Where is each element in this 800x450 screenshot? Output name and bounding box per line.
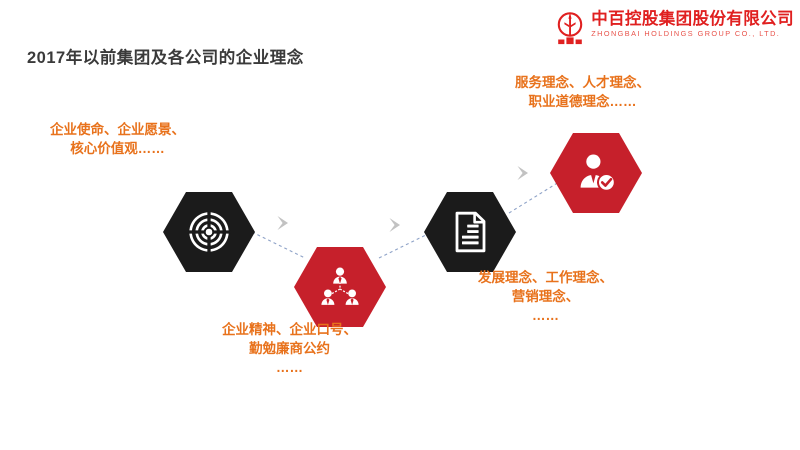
caption-mission: 企业使命、企业愿景、 核心价值观…… <box>50 120 185 158</box>
caption-line: 勤勉廉商公约 <box>222 339 357 358</box>
chevron-right-icon <box>385 215 407 235</box>
caption-line: 职业道德理念…… <box>515 92 650 111</box>
target-bullseye-icon <box>187 210 231 254</box>
caption-spirit: 企业精神、企业口号、 勤勉廉商公约 …… <box>222 320 357 377</box>
caption-line: 企业精神、企业口号、 <box>222 320 357 339</box>
flow-node-mission[interactable] <box>163 192 255 272</box>
caption-ellipsis: …… <box>478 306 613 325</box>
hexagon-flow-diagram: 企业使命、企业愿景、 核心价值观…… 企业精神、企业口号、 勤勉廉商公约 …… … <box>0 0 800 450</box>
caption-development: 发展理念、工作理念、 营销理念、 …… <box>478 268 613 325</box>
caption-line: 企业使命、企业愿景、 <box>50 120 185 139</box>
flow-node-development[interactable] <box>424 192 516 272</box>
document-file-icon <box>448 210 492 254</box>
flow-node-service[interactable] <box>550 133 642 213</box>
caption-line: 服务理念、人才理念、 <box>515 73 650 92</box>
caption-line: 核心价值观…… <box>50 139 185 158</box>
caption-line: 营销理念、 <box>478 287 613 306</box>
caption-ellipsis: …… <box>222 358 357 377</box>
caption-line: 发展理念、工作理念、 <box>478 268 613 287</box>
person-check-approved-icon <box>574 151 618 195</box>
chevron-right-icon <box>513 163 535 183</box>
chevron-right-icon <box>273 213 295 233</box>
caption-service: 服务理念、人才理念、 职业道德理念…… <box>515 73 650 111</box>
flow-node-spirit[interactable] <box>294 247 386 327</box>
slide-canvas: 中百控股集团股份有限公司 ZHONGBAI HOLDINGS GROUP CO.… <box>0 0 800 450</box>
org-chart-team-icon <box>318 265 362 309</box>
